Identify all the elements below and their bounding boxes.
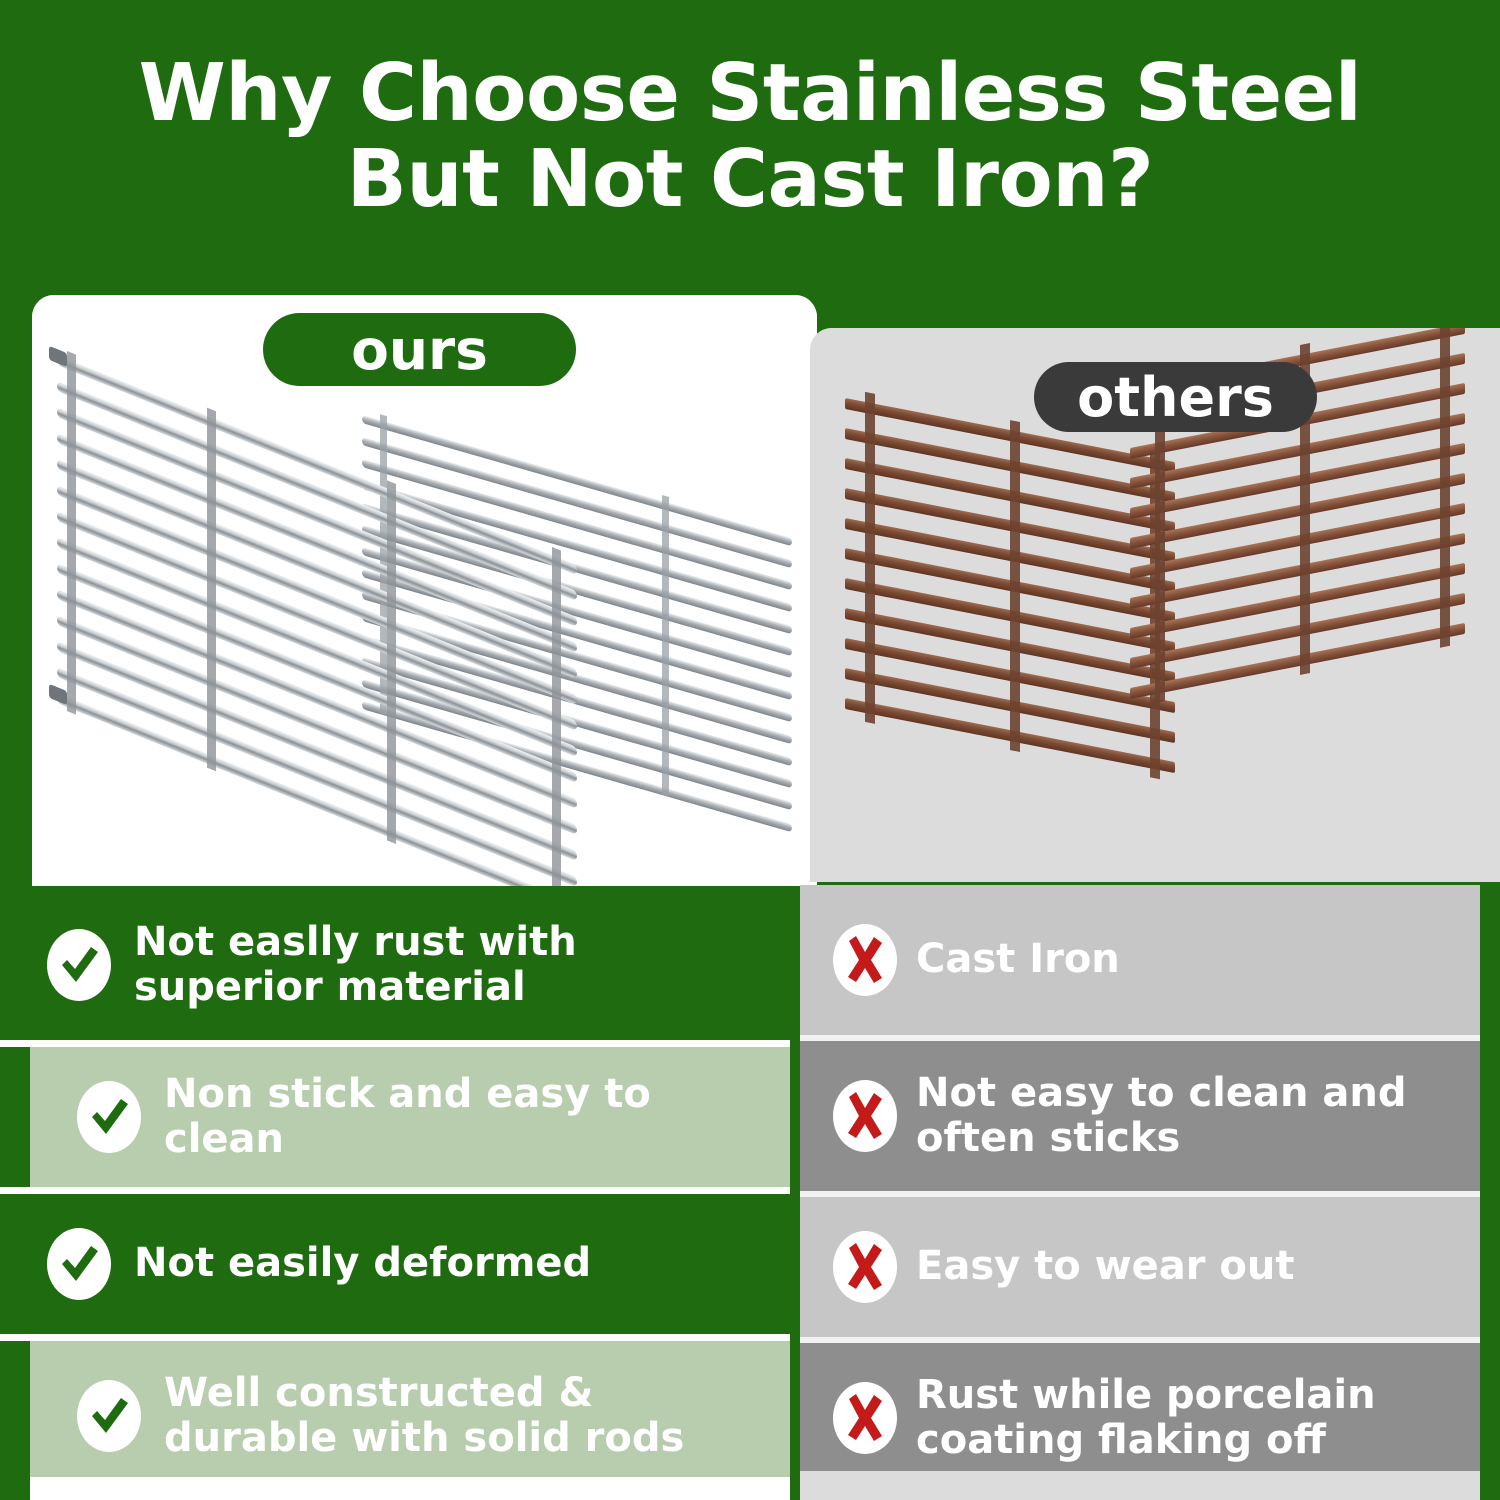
list-item: Non stick and easy to clean	[30, 1047, 790, 1187]
badge-ours: ours	[263, 313, 576, 386]
row-separator	[0, 1040, 790, 1047]
others-feature-list: Cast Iron Not easy to clean and often st…	[800, 885, 1500, 1500]
check-icon	[76, 1378, 142, 1454]
list-item-label: Well constructed & durable with solid ro…	[164, 1371, 790, 1461]
title-line-2: But Not Cast Iron?	[347, 136, 1154, 222]
list-item: Not easily deformed	[0, 1194, 790, 1334]
list-item-label: Not easily deformed	[134, 1241, 605, 1286]
cross-icon	[832, 1078, 898, 1154]
list-item: Not easlly rust with superior material	[0, 890, 790, 1040]
list-item: Easy to wear out	[800, 1197, 1500, 1337]
badge-ours-label: ours	[351, 318, 488, 382]
list-item-label: Not easlly rust with superior material	[134, 920, 790, 1010]
list-item-label: Rust while porcelain coating flaking off	[916, 1373, 1500, 1463]
cross-icon	[832, 1380, 898, 1456]
check-icon	[46, 927, 112, 1003]
list-item-label: Easy to wear out	[916, 1244, 1308, 1289]
list-item-label: Non stick and easy to clean	[164, 1072, 790, 1162]
right-green-edge	[1480, 885, 1500, 1500]
list-item-label: Cast Iron	[916, 937, 1134, 982]
ours-feature-list: Not easlly rust with superior material N…	[0, 890, 790, 1500]
left-bottom-filler	[30, 1477, 790, 1500]
title-line-1: Why Choose Stainless Steel	[139, 50, 1362, 136]
cross-icon	[832, 1229, 898, 1305]
page-title: Why Choose Stainless Steel But Not Cast …	[0, 0, 1500, 272]
list-item-label: Not easy to clean and often sticks	[916, 1071, 1500, 1161]
badge-others-label: others	[1077, 366, 1274, 429]
row-separator	[0, 1334, 790, 1341]
badge-others: others	[1034, 362, 1317, 432]
list-item: Not easy to clean and often sticks	[800, 1041, 1500, 1191]
check-icon	[76, 1079, 142, 1155]
row-separator	[0, 1187, 790, 1194]
right-bottom-filler	[800, 1471, 1480, 1500]
cross-icon	[832, 922, 898, 998]
list-item: Well constructed & durable with solid ro…	[30, 1341, 790, 1491]
check-icon	[46, 1226, 112, 1302]
list-item: Cast Iron	[800, 885, 1500, 1035]
